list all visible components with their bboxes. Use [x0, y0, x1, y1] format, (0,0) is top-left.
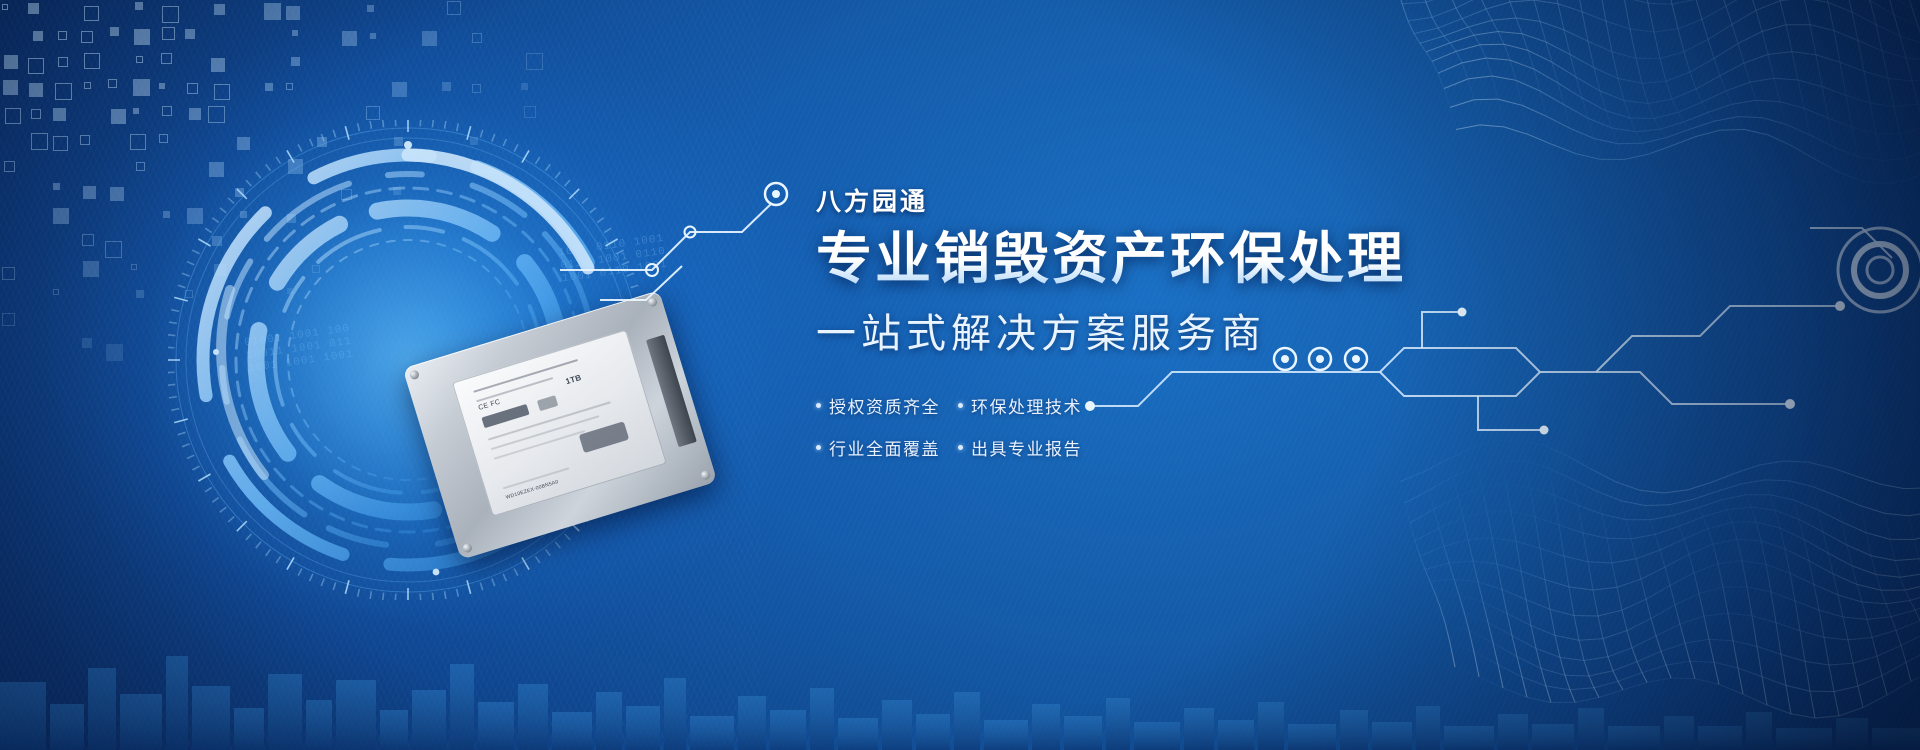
bullet-dot-icon	[958, 403, 963, 408]
feature-item-2: 行业全面覆盖	[816, 435, 958, 460]
brand-name: 八方园通	[816, 182, 1576, 218]
headline: 专业销毁资产环保处理	[816, 228, 1576, 291]
bullet-dot-icon	[816, 445, 821, 450]
subheadline: 一站式解决方案服务商	[816, 301, 1576, 359]
feature-list: 授权资质齐全 环保处理技术 行业全面覆盖 出具专业报告	[816, 393, 1146, 477]
feature-label: 出具专业报告	[971, 435, 1082, 460]
banner-copy-block: 八方园通 专业销毁资产环保处理 一站式解决方案服务商 授权资质齐全 环保处理技术…	[816, 182, 1576, 477]
feature-label: 环保处理技术	[971, 393, 1082, 418]
bullet-dot-icon	[958, 445, 963, 450]
feature-item-0: 授权资质齐全	[816, 393, 958, 418]
bullet-dot-icon	[816, 403, 821, 408]
promo-banner: 1001 0110 1001 0110 1001 0110 1001 0110 …	[0, 0, 1920, 750]
feature-label: 授权资质齐全	[829, 393, 940, 418]
feature-item-3: 出具专业报告	[958, 435, 1100, 460]
feature-row: 授权资质齐全 环保处理技术	[816, 393, 1146, 435]
feature-item-1: 环保处理技术	[958, 393, 1100, 418]
feature-label: 行业全面覆盖	[829, 435, 940, 460]
feature-row: 行业全面覆盖 出具专业报告	[816, 435, 1146, 477]
